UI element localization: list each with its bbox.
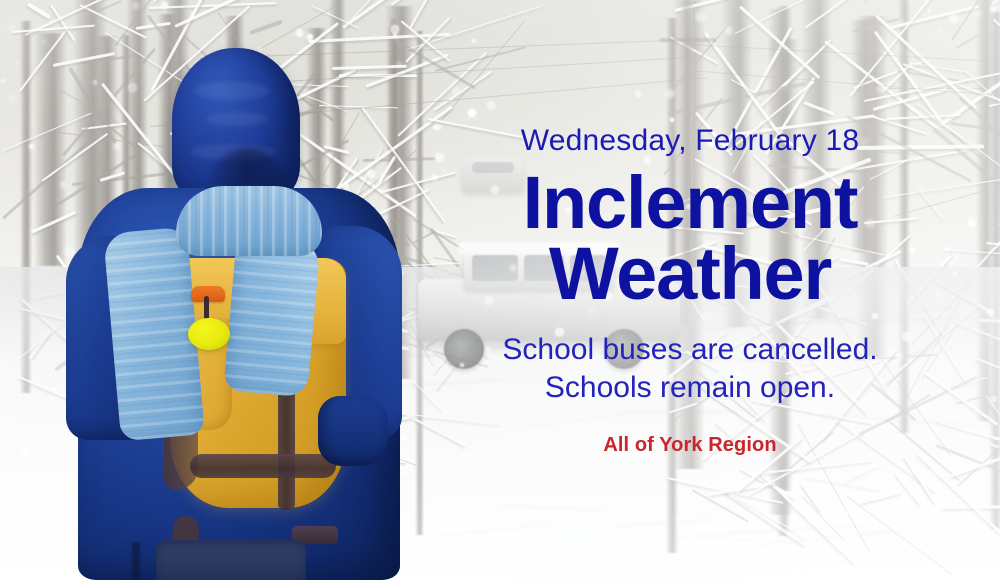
snowflake bbox=[684, 491, 690, 497]
snowflake bbox=[913, 546, 915, 548]
snowflake bbox=[985, 471, 990, 476]
backpack-horizontal-strap bbox=[190, 454, 336, 478]
subtext-line-1: School buses are cancelled. bbox=[502, 333, 877, 366]
snowflake bbox=[8, 24, 15, 31]
scarf-loop bbox=[176, 186, 322, 256]
snowflake bbox=[488, 568, 490, 570]
snowflake bbox=[475, 126, 478, 129]
snowflake bbox=[866, 220, 873, 227]
snowflake bbox=[28, 527, 31, 530]
announcement-subtext: School buses are cancelled. Schools rema… bbox=[502, 331, 877, 408]
snowflake bbox=[910, 248, 915, 253]
scarf-ribbing bbox=[176, 186, 322, 256]
snowflake bbox=[970, 532, 975, 537]
snowflake bbox=[432, 175, 437, 180]
snowflake bbox=[960, 543, 962, 545]
inclement-weather-banner: Wednesday, February 18 Inclement Weather… bbox=[0, 0, 1000, 580]
snowflake bbox=[133, 3, 139, 9]
snowflake bbox=[52, 387, 57, 392]
snowflake bbox=[953, 272, 956, 275]
announcement-date: Wednesday, February 18 bbox=[521, 124, 859, 157]
snowflake bbox=[932, 470, 937, 475]
snowflake bbox=[961, 553, 965, 557]
snowflake bbox=[684, 522, 690, 528]
snowflake bbox=[851, 460, 857, 466]
snowflake bbox=[452, 86, 461, 95]
child-figure bbox=[60, 40, 410, 580]
snowflake bbox=[784, 491, 791, 498]
snowflake bbox=[484, 397, 491, 404]
snowflake bbox=[161, 2, 168, 9]
snowflake bbox=[726, 44, 728, 46]
snowflake bbox=[919, 186, 923, 190]
snowflake bbox=[391, 25, 399, 33]
announcement-region: All of York Region bbox=[603, 434, 776, 457]
snowflake bbox=[974, 11, 979, 16]
announcement-headline: Inclement Weather bbox=[523, 167, 858, 309]
snowflake bbox=[666, 90, 674, 98]
snowflake bbox=[443, 170, 445, 172]
snowflake bbox=[8, 95, 14, 101]
headline-line-2: Weather bbox=[523, 238, 858, 309]
snowflake bbox=[968, 219, 976, 227]
snowflake bbox=[38, 412, 41, 415]
snowflake bbox=[896, 353, 903, 360]
snowflake bbox=[902, 332, 911, 341]
snowflake bbox=[872, 313, 879, 320]
snowflake bbox=[487, 101, 495, 109]
snowflake bbox=[670, 118, 674, 122]
snowflake bbox=[676, 518, 679, 521]
snowflake bbox=[952, 437, 956, 441]
snowflake bbox=[485, 296, 494, 305]
snowflake bbox=[696, 13, 704, 21]
snowflake bbox=[990, 6, 996, 12]
snowflake bbox=[630, 514, 637, 521]
hood-fold bbox=[194, 82, 270, 100]
knit-scarf bbox=[112, 186, 324, 438]
snowflake bbox=[936, 410, 941, 415]
snowflake bbox=[793, 575, 798, 580]
snowflake bbox=[472, 39, 476, 43]
snowflake bbox=[486, 347, 491, 352]
snowflake bbox=[372, 34, 375, 37]
snowflake bbox=[928, 9, 931, 12]
snowflake bbox=[466, 572, 473, 579]
snowflake bbox=[468, 109, 476, 117]
snowflake bbox=[393, 33, 397, 37]
scarf-tail-right bbox=[223, 235, 320, 398]
snowflake bbox=[21, 448, 29, 456]
snowflake bbox=[493, 535, 499, 541]
snowflake bbox=[1, 79, 4, 82]
snowflake bbox=[510, 265, 516, 271]
snowflake bbox=[880, 563, 884, 567]
snow-pants bbox=[156, 540, 306, 580]
snowflake bbox=[991, 396, 997, 402]
snowflake bbox=[938, 29, 941, 32]
snowflake bbox=[954, 255, 959, 260]
snowflake bbox=[878, 86, 884, 92]
snowflake bbox=[686, 531, 693, 538]
reflector-tag bbox=[188, 318, 230, 350]
snowflake bbox=[963, 402, 969, 408]
hood-fold bbox=[206, 112, 268, 126]
snowflake bbox=[838, 518, 844, 524]
scarf-ribbing bbox=[223, 235, 320, 398]
snowflake bbox=[635, 91, 641, 97]
snowflake bbox=[934, 290, 942, 298]
snowflake bbox=[861, 138, 868, 145]
snowflake bbox=[949, 260, 954, 265]
snowflake bbox=[988, 309, 993, 314]
snowflake bbox=[829, 571, 832, 574]
snowflake bbox=[509, 460, 512, 463]
snowflake bbox=[435, 153, 444, 162]
snowflake bbox=[296, 29, 303, 36]
snowflake bbox=[900, 20, 903, 23]
snowflake bbox=[927, 132, 929, 134]
snowflake bbox=[518, 242, 521, 245]
snowflake bbox=[43, 41, 46, 44]
snowflake bbox=[430, 350, 433, 353]
snowflake bbox=[450, 98, 452, 100]
snowflake bbox=[945, 247, 949, 251]
snowflake bbox=[460, 363, 464, 367]
winter-mitten bbox=[318, 396, 388, 466]
snowflake bbox=[29, 144, 34, 149]
snowflake bbox=[868, 539, 871, 542]
snowflake bbox=[892, 487, 900, 495]
snowflake bbox=[949, 14, 958, 23]
snowflake bbox=[725, 27, 732, 34]
pants-leg-gap bbox=[132, 542, 140, 580]
snowflake bbox=[491, 186, 499, 194]
snowflake bbox=[494, 448, 503, 457]
snowflake bbox=[433, 125, 436, 128]
snowflake bbox=[15, 62, 18, 65]
subtext-line-2: Schools remain open. bbox=[502, 369, 877, 407]
snowflake bbox=[845, 508, 851, 514]
